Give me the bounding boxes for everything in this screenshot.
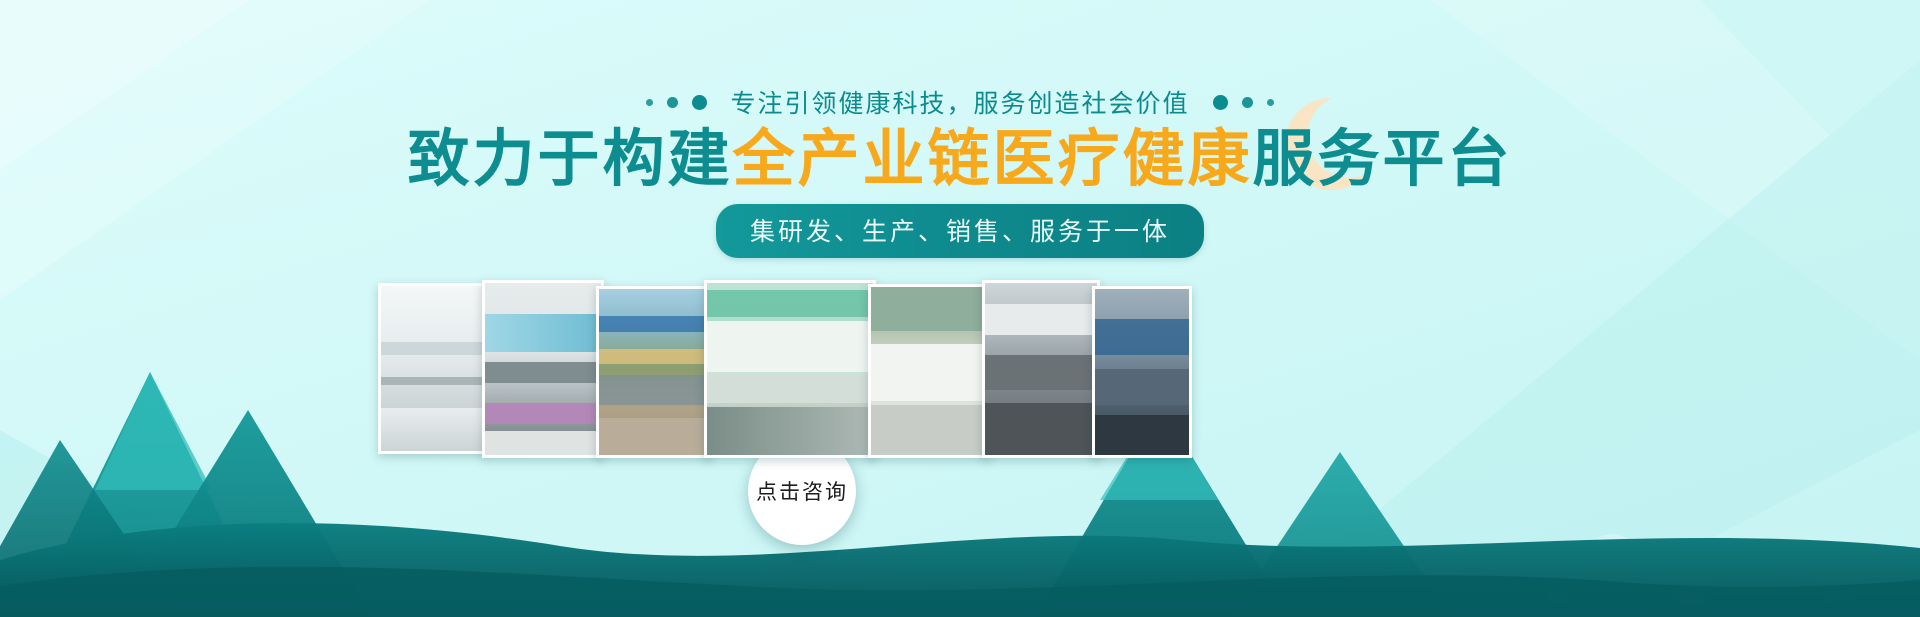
tagline-row: 专注引领健康科技，服务创造社会价值 (0, 84, 1920, 120)
consult-button-label: 点击咨询 (756, 476, 848, 506)
dot-medium-icon (1242, 97, 1253, 108)
tagline-text: 专注引领健康科技，服务创造社会价值 (730, 84, 1189, 120)
headline-part-1: 致力于构建 (407, 122, 732, 195)
tagline-dots-left (646, 95, 707, 110)
dot-large-icon (692, 95, 707, 110)
headline-part-3: 服务平台 (1253, 122, 1513, 195)
dot-medium-icon (667, 97, 678, 108)
dot-small-icon (1267, 99, 1274, 106)
photo-thumbnail[interactable] (868, 284, 990, 458)
dot-small-icon (646, 99, 653, 106)
subtitle-pill: 集研发、生产、销售、服务于一体 (716, 204, 1204, 258)
headline-part-2: 全产业链医疗健康 (732, 122, 1252, 195)
photo-thumbnail[interactable] (596, 286, 712, 458)
photo-thumbnail[interactable] (982, 280, 1100, 458)
photo-thumbnail[interactable] (378, 283, 486, 454)
photo-thumbnail[interactable] (482, 280, 604, 458)
tagline-dots-right (1213, 95, 1274, 110)
subtitle-pill-wrapper: 集研发、生产、销售、服务于一体 (0, 204, 1920, 258)
photo-thumbnail[interactable] (704, 280, 876, 458)
headline: 致力于构建全产业链医疗健康服务平台 (0, 122, 1920, 196)
photo-thumbnail[interactable] (1092, 286, 1192, 458)
photo-strip (378, 280, 1543, 452)
hero-banner: 专注引领健康科技，服务创造社会价值 致力于构建全产业链医疗健康服务平台 集研发、… (0, 0, 1920, 617)
dot-large-icon (1213, 95, 1228, 110)
